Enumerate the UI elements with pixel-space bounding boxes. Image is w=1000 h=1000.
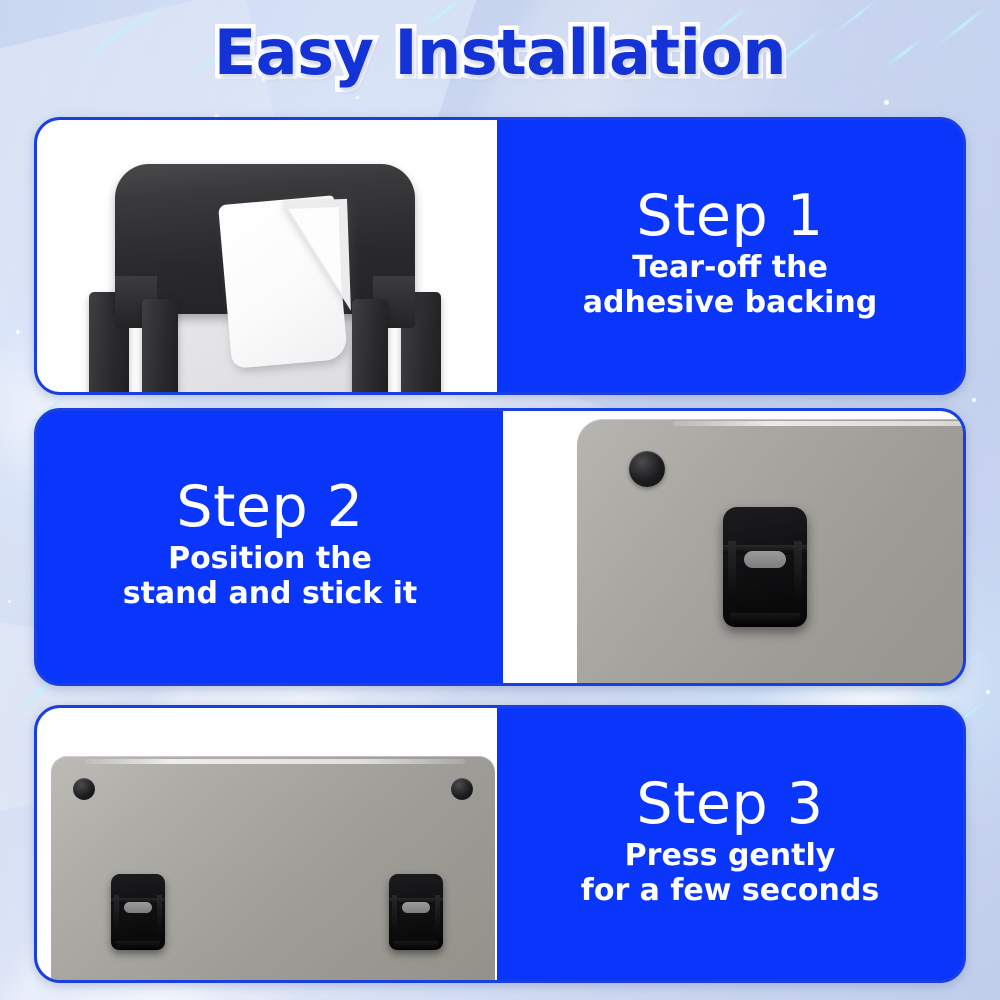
- stand-mount-hinge-left: [392, 895, 397, 933]
- step-3-heading: Step 3: [636, 775, 823, 833]
- stand-mount-left: [111, 874, 165, 950]
- stand-mount-slot: [402, 902, 430, 913]
- phone-stand-illustration: [37, 120, 497, 392]
- easy-installation-infographic: Easy Installation: [0, 0, 1000, 1000]
- step-2-photo: [503, 411, 963, 683]
- tablet-camera-icon: [629, 451, 665, 487]
- stand-assembly: [115, 164, 415, 392]
- stand-mount-hinge-right: [794, 541, 802, 599]
- stand-mount-hinge-left: [728, 541, 736, 599]
- step-3-text: Step 3 Press gently for a few seconds: [497, 708, 963, 980]
- page-title: Easy Installation: [214, 22, 786, 84]
- stand-mount-right: [389, 874, 443, 950]
- step-3-photo: [37, 708, 497, 980]
- stand-mount-hinge-right: [157, 895, 162, 933]
- adhesive-film-fold: [289, 207, 342, 295]
- step-panel-1: Step 1 Tear-off the adhesive backing: [34, 117, 966, 395]
- step-1-heading: Step 1: [636, 187, 823, 245]
- step-panel-2: Step 2 Position the stand and stick it: [34, 408, 966, 686]
- laptop-top-edge: [85, 759, 465, 764]
- step-1-text: Step 1 Tear-off the adhesive backing: [497, 120, 963, 392]
- stand-mount-attached: [723, 507, 807, 627]
- stand-mount-lip: [730, 613, 800, 627]
- tablet-back-panel: [577, 419, 963, 683]
- step-2-text: Step 2 Position the stand and stick it: [37, 411, 503, 683]
- step-2-description: Position the stand and stick it: [123, 542, 418, 612]
- laptop-back-panel: [51, 756, 495, 980]
- stand-mount-hinge-right: [435, 895, 440, 933]
- laptop-camera-right-icon: [451, 778, 473, 800]
- tablet-with-stand-illustration: [503, 411, 963, 683]
- stand-mount-lip: [394, 941, 438, 950]
- laptop-with-stands-illustration: [37, 708, 497, 980]
- stand-leg-inner-left: [142, 299, 178, 392]
- stand-mount-slot: [744, 551, 786, 568]
- stand-leg-inner-right: [352, 299, 388, 392]
- step-3-description: Press gently for a few seconds: [581, 839, 879, 909]
- stand-mount-lip: [116, 941, 160, 950]
- stand-mount-slot: [124, 902, 152, 913]
- step-1-photo: [37, 120, 497, 392]
- step-panel-3: Step 3 Press gently for a few seconds: [34, 705, 966, 983]
- tablet-top-edge: [673, 421, 963, 426]
- step-1-description: Tear-off the adhesive backing: [583, 251, 877, 321]
- stand-mount-hinge-left: [114, 895, 119, 933]
- page-title-container: Easy Installation: [0, 22, 1000, 84]
- laptop-camera-left-icon: [73, 778, 95, 800]
- step-2-heading: Step 2: [176, 478, 363, 536]
